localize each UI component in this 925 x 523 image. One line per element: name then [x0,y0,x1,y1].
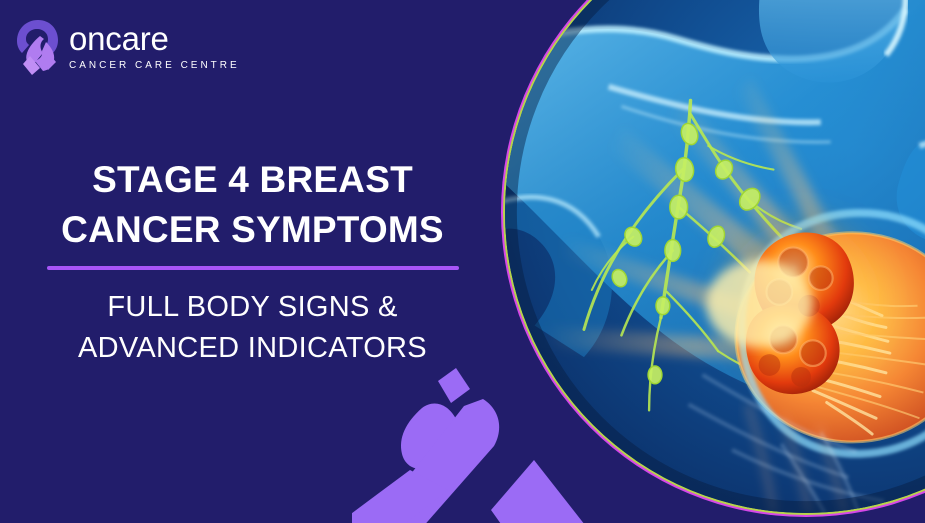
hero-image-circle [501,0,925,517]
logo-wordmark: oncare [69,23,240,55]
subhead-line-1: FULL BODY SIGNS & [0,287,505,328]
logo[interactable]: oncare CANCER CARE CENTRE [16,18,240,76]
page-title: STAGE 4 BREAST CANCER SYMPTOMS [0,155,505,256]
headline-line-2: CANCER SYMPTOMS [0,205,505,255]
title-divider [47,266,459,270]
subhead-line-2: ADVANCED INDICATORS [0,328,505,369]
awareness-ribbon-icon [16,18,60,76]
hero-image [505,0,925,513]
promo-banner: oncare CANCER CARE CENTRE STAGE 4 BREAST… [0,0,925,523]
logo-text: oncare CANCER CARE CENTRE [69,23,240,71]
headline-block: STAGE 4 BREAST CANCER SYMPTOMS FULL BODY… [0,155,505,369]
headline-line-1: STAGE 4 BREAST [0,155,505,205]
breast-cancer-anatomy-illustration [505,0,925,513]
page-subtitle: FULL BODY SIGNS & ADVANCED INDICATORS [0,287,505,369]
logo-tagline: CANCER CARE CENTRE [69,60,240,71]
